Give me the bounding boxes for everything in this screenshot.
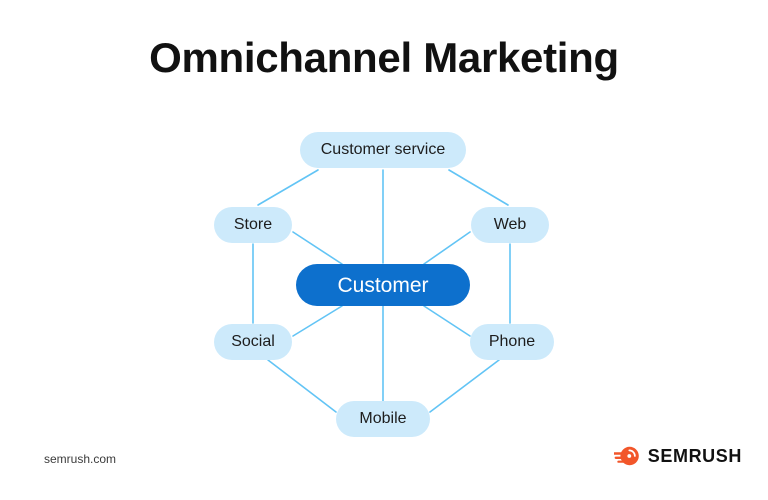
edge-customer-service-store xyxy=(258,170,318,205)
edge-customer-social xyxy=(293,306,342,336)
node-customer-service[interactable]: Customer service xyxy=(300,132,466,168)
node-customer-center[interactable]: Customer xyxy=(296,264,470,306)
semrush-logo: SEMRUSH xyxy=(614,445,742,467)
edge-phone-mobile xyxy=(430,360,499,412)
node-social[interactable]: Social xyxy=(214,324,292,360)
edge-social-mobile xyxy=(268,360,336,412)
footer-source-url: semrush.com xyxy=(44,452,116,466)
edge-customer-service-web xyxy=(449,170,508,205)
node-store[interactable]: Store xyxy=(214,207,292,243)
node-phone[interactable]: Phone xyxy=(470,324,554,360)
edge-web-customer xyxy=(424,232,470,264)
semrush-wordmark: SEMRUSH xyxy=(648,446,742,467)
node-web[interactable]: Web xyxy=(471,207,549,243)
node-mobile[interactable]: Mobile xyxy=(336,401,430,437)
slide-canvas: Omnichannel Marketing xyxy=(0,0,768,500)
footer: semrush.com SEMRUSH xyxy=(0,440,768,500)
semrush-comet-icon xyxy=(614,445,640,467)
diagram-edges xyxy=(0,0,768,460)
omnichannel-diagram: Customer service Store Web Customer Soci… xyxy=(0,0,768,460)
edge-customer-phone xyxy=(424,306,470,336)
edge-store-customer xyxy=(293,232,342,264)
